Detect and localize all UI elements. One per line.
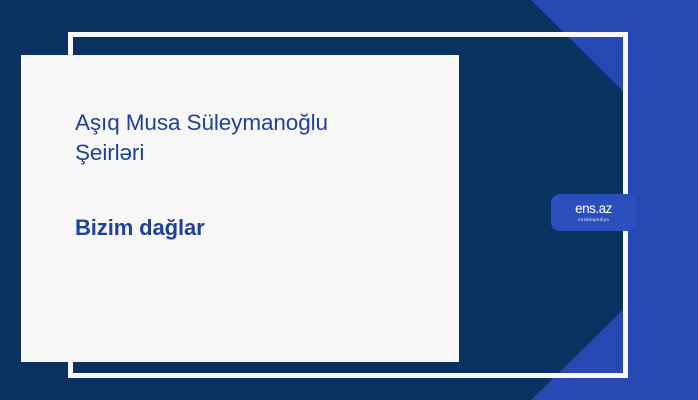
poem-subtitle: Bizim dağlar: [75, 168, 435, 243]
slide-canvas: Aşıq Musa Süleymanoğlu Şeirləri Bizim da…: [0, 0, 698, 400]
text-block: Aşıq Musa Süleymanoğlu Şeirləri Bizim da…: [75, 108, 435, 242]
page-title: Aşıq Musa Süleymanoğlu Şeirləri: [75, 108, 435, 168]
logo-wordmark: ens.az: [575, 202, 612, 216]
logo-tagline: ensiklopediya: [578, 218, 609, 223]
ens-az-logo-badge[interactable]: ens.az ensiklopediya: [551, 194, 636, 231]
